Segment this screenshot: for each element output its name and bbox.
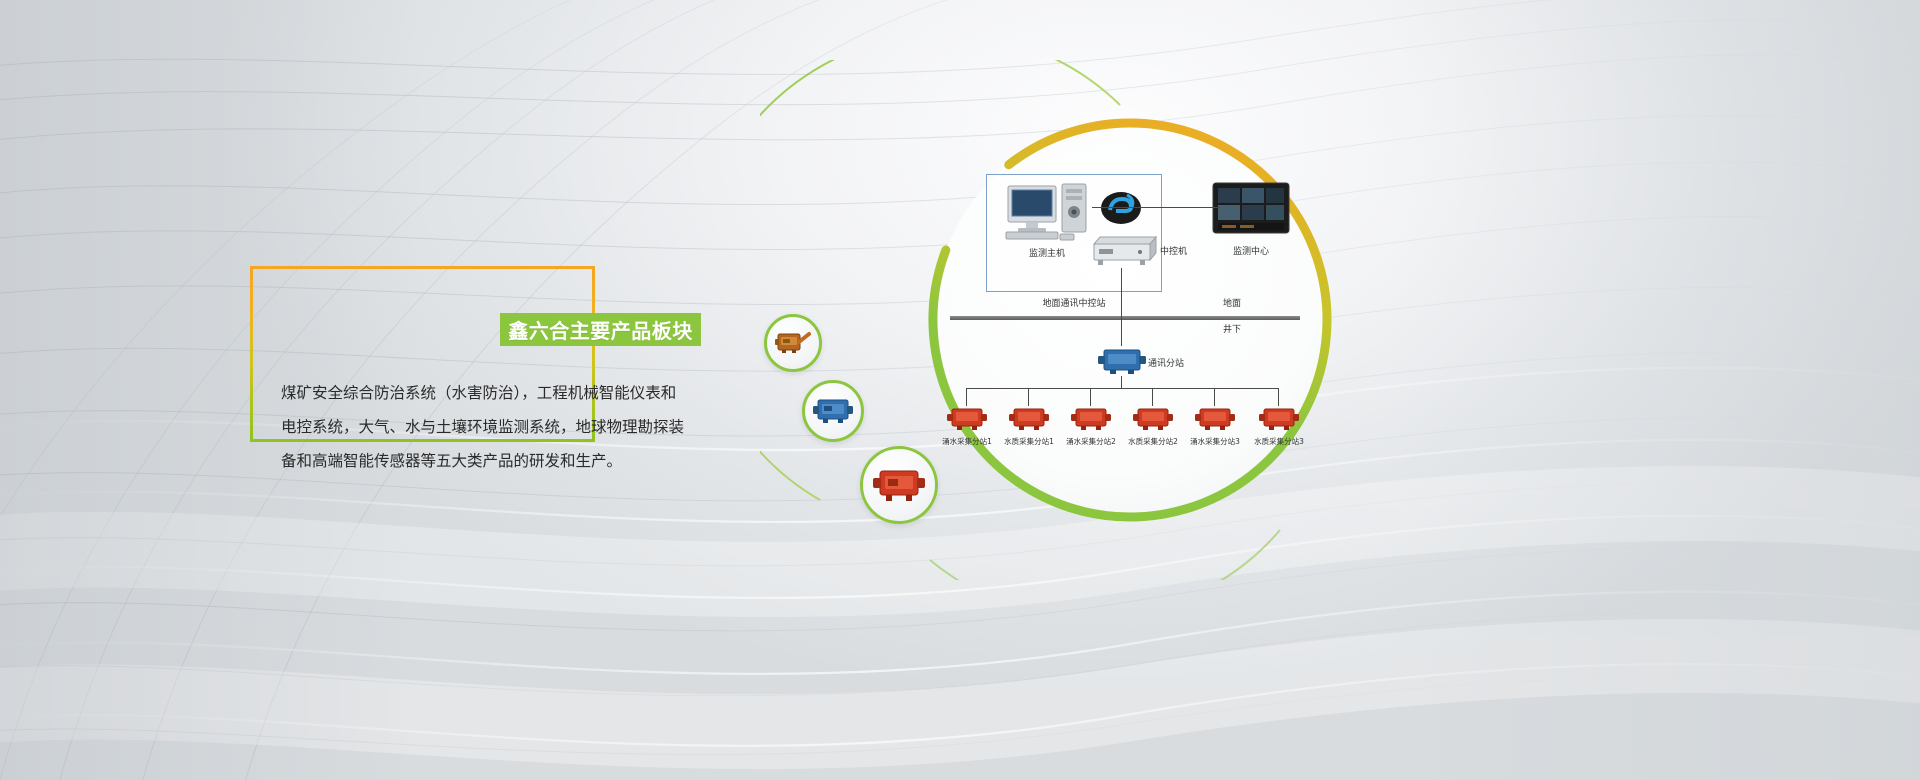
label-central-controller: 中控机	[1160, 244, 1200, 257]
label-ground-comm-station: 地面通讯中控站	[1014, 296, 1134, 309]
label-comm-substation: 通讯分站	[1148, 356, 1198, 369]
label-substation-5: 涌水采集分站3	[1183, 436, 1247, 447]
collection-device-icon	[1071, 406, 1111, 432]
label-monitoring-center: 监测中心	[1212, 244, 1290, 257]
description-line-2: 电控系统，大气、水与土壤环境监测系统，地球物理勘探装	[281, 410, 701, 444]
drop-line	[1214, 388, 1215, 406]
badge-device-brown[interactable]	[764, 314, 822, 372]
red-device-icon	[873, 465, 925, 505]
description-line-1: 煤矿安全综合防治系统（水害防治），工程机械智能仪表和	[281, 376, 701, 410]
central-controller-icon	[1088, 234, 1158, 268]
description-line-3: 备和高端智能传感器等五大类产品的研发和生产。	[281, 444, 701, 478]
label-substation-1: 涌水采集分站1	[935, 436, 999, 447]
product-description: 煤矿安全综合防治系统（水害防治），工程机械智能仪表和 电控系统，大气、水与土壤环…	[281, 376, 701, 478]
drop-line	[1028, 388, 1029, 406]
collection-device-icon	[1133, 406, 1173, 432]
page-title-banner: 鑫六合主要产品板块	[500, 313, 701, 346]
system-infographic: 监测主机 中控机	[760, 60, 1380, 580]
collection-device-icon	[1009, 406, 1049, 432]
substation-bus-line	[966, 388, 1278, 389]
link-host-to-center	[1092, 207, 1220, 208]
blue-device-icon	[813, 396, 853, 426]
drop-line	[966, 388, 967, 406]
collection-device-icon	[947, 406, 987, 432]
label-substation-3: 涌水采集分站2	[1059, 436, 1123, 447]
link-controller-to-substation	[1121, 268, 1122, 346]
monitoring-center-icon	[1212, 182, 1290, 238]
ground-divider-line	[950, 316, 1300, 320]
network-cloud-icon	[1100, 188, 1142, 228]
label-monitoring-host: 监测主机	[1002, 246, 1092, 259]
badge-device-blue[interactable]	[802, 380, 864, 442]
link-substation-to-bus	[1121, 376, 1122, 388]
comm-substation-icon	[1098, 346, 1146, 376]
label-substation-2: 水质采集分站1	[997, 436, 1061, 447]
label-underground: 井下	[1212, 322, 1252, 335]
collection-device-icon	[1195, 406, 1235, 432]
drop-line	[1090, 388, 1091, 406]
label-substation-4: 水质采集分站2	[1121, 436, 1185, 447]
architecture-diagram: 监测主机 中控机	[940, 160, 1320, 490]
badge-device-red[interactable]	[860, 446, 938, 524]
drop-line	[1152, 388, 1153, 406]
page-title: 鑫六合主要产品板块	[508, 315, 693, 344]
collection-device-icon	[1259, 406, 1299, 432]
drop-line	[1278, 388, 1279, 406]
label-ground: 地面	[1212, 296, 1252, 309]
brown-device-icon	[775, 330, 811, 356]
label-substation-6: 水质采集分站3	[1247, 436, 1311, 447]
monitoring-host-icon	[1002, 182, 1092, 244]
